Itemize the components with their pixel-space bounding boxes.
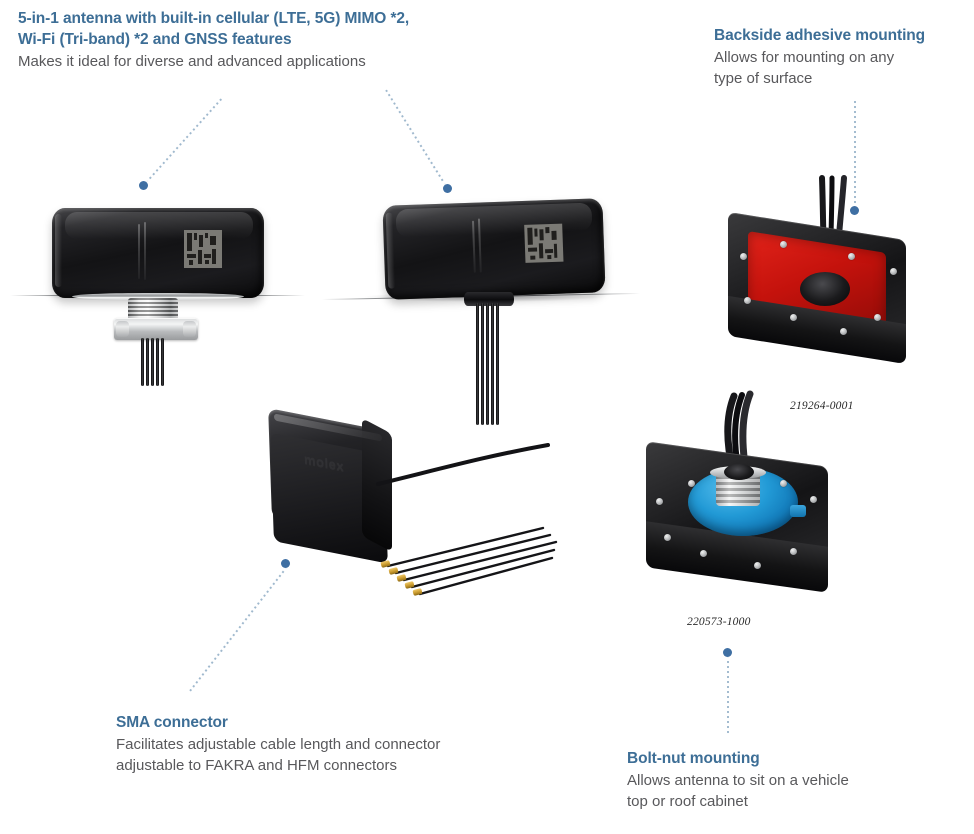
callout-bolt-nut-mounting: Bolt-nut mounting Allows antenna to sit … (627, 748, 927, 812)
cable (491, 303, 494, 425)
cable (476, 303, 479, 425)
cable (141, 338, 144, 386)
part-number-boltnut: 220573-1000 (687, 616, 751, 628)
screw-icon (890, 268, 897, 275)
housing-rib-left (472, 221, 476, 273)
screw-icon (790, 548, 797, 555)
cable (486, 303, 489, 425)
screw-icon (700, 550, 707, 557)
screw-icon (740, 253, 747, 260)
antenna-housing (382, 198, 605, 300)
cable (481, 303, 484, 425)
qr-code-icon (524, 224, 563, 263)
product-adhesive-puck (722, 218, 922, 388)
housing-rib-left (138, 224, 140, 279)
cable (496, 303, 499, 425)
callout-backside-adhesive-mounting: Backside adhesive mounting Allows for mo… (714, 25, 966, 89)
product-patch-antenna: molex (258, 408, 548, 608)
qr-code-icon (184, 230, 222, 268)
leader-line-five-in-one (142, 98, 222, 187)
cable (156, 338, 159, 386)
housing-rib-right (144, 222, 146, 280)
housing-rib-right (478, 218, 482, 272)
callout-title: Bolt-nut mounting (627, 748, 927, 769)
leader-line-adhesive-antenna (385, 89, 450, 191)
cable-grommet (800, 272, 850, 306)
cable (146, 338, 149, 386)
housing-left-highlight (55, 214, 62, 287)
screw-icon (780, 241, 787, 248)
callout-title: Backside adhesive mounting (714, 25, 966, 46)
callout-title: SMA connector (116, 712, 536, 733)
leader-dot-bolt-nut (723, 648, 732, 657)
callout-five-in-one-antenna: 5-in-1 antenna with built-in cellular (L… (18, 8, 488, 72)
callout-body: Facilitates adjustable cable length and … (116, 734, 536, 776)
gasket-tab (790, 505, 806, 517)
screw-icon (790, 314, 797, 321)
screw-icon (848, 253, 855, 260)
callout-body: Allows for mounting on any type of surfa… (714, 47, 966, 89)
housing-left-highlight (386, 212, 396, 288)
housing-top-highlight (396, 203, 593, 238)
product-boltnut-puck (642, 438, 842, 608)
main-cable (376, 448, 556, 508)
cable (161, 338, 164, 386)
callout-body: Makes it ideal for diverse and advanced … (18, 51, 488, 72)
cable-grommet (724, 464, 754, 480)
screw-icon (840, 328, 847, 335)
screw-icon (810, 496, 817, 503)
callout-body: Allows antenna to sit on a vehicle top o… (627, 770, 927, 812)
leader-line-backside-adhesive (854, 101, 856, 213)
housing-top-highlight (65, 212, 254, 239)
cable-bundle (141, 338, 167, 386)
screw-icon (754, 562, 761, 569)
callout-sma-connector: SMA connector Facilitates adjustable cab… (116, 712, 536, 776)
screw-icon (688, 480, 695, 487)
cable (151, 338, 154, 386)
leader-line-bolt-nut (727, 656, 729, 734)
cable-bundle (476, 303, 502, 425)
callout-title: 5-in-1 antenna with built-in cellular (L… (18, 8, 488, 50)
screw-icon (780, 480, 787, 487)
screw-icon (744, 297, 751, 304)
screw-icon (656, 498, 663, 505)
product-bolt-mounted-antenna (20, 190, 310, 420)
screw-icon (664, 534, 671, 541)
hex-nut (114, 318, 198, 340)
screw-icon (874, 314, 881, 321)
nut-lug-left (116, 321, 129, 337)
leader-dot-five-in-one (139, 181, 148, 190)
nut-lug-right (183, 321, 196, 337)
antenna-housing (52, 208, 264, 298)
